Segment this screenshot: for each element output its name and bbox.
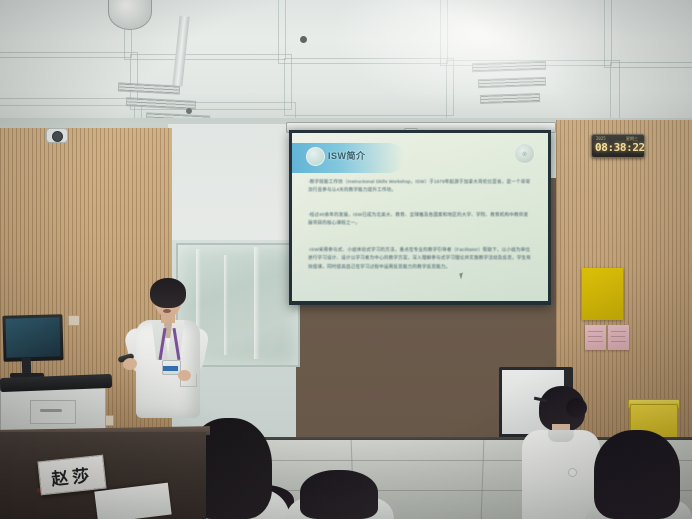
ceiling-fixture-icon <box>186 108 192 114</box>
attendee-uniform-standing <box>522 430 600 519</box>
camera-lens-icon <box>52 131 63 142</box>
wall-notice-pink-2 <box>608 325 629 350</box>
attendee-collar <box>548 430 574 442</box>
slide-paragraph-2: ·经过40余年的发展，ISW已成为北美大、教育、全球推及各国家和地区的大学、学院… <box>308 211 532 228</box>
slide-title: ISW简介 <box>328 149 478 162</box>
attendee-head-foreground-center <box>300 470 378 519</box>
slide-paragraph-1: ·教学技能工作坊（Instructional Skills Workshop，I… <box>308 178 532 195</box>
attendee-hair-bun <box>566 398 587 418</box>
presenter-mouth <box>163 309 171 313</box>
monitor-screen[interactable] <box>5 317 60 357</box>
organization-logo-icon: ◎ <box>514 143 535 164</box>
attendee-uniform-button <box>568 468 577 477</box>
nameplate-text: 赵莎 <box>50 460 94 489</box>
clock-time-display: 08:38:22 <box>595 141 640 154</box>
wall-poster-yellow <box>582 268 623 320</box>
podium-drawer[interactable] <box>30 400 76 424</box>
wall-notice-pink-1 <box>585 325 606 350</box>
ceiling <box>0 0 692 132</box>
logo-glyph: ◎ <box>522 151 526 157</box>
badge-color-bar <box>163 366 178 371</box>
podium-drawer-handle[interactable] <box>40 409 62 412</box>
presenter <box>128 278 214 438</box>
slide-title-bullet-icon <box>306 147 325 166</box>
wall-socket-icon <box>68 315 80 326</box>
smoke-detector-icon <box>300 36 307 43</box>
projection-screen: ISW简介 ◎ ·教学技能工作坊（Instructional Skills Wo… <box>292 133 548 301</box>
slide-paragraph-3: ·ISW采用参与式、小组体验式学习的方法，重点在专业的教学引导者（Facilit… <box>308 246 534 271</box>
desk-nameplate: 赵莎 <box>37 455 106 496</box>
presenter-hair <box>150 278 186 308</box>
attendee-head-foreground-right <box>594 430 680 519</box>
photo-scene: ISW简介 ◎ ·教学技能工作坊（Instructional Skills Wo… <box>0 0 692 519</box>
presenter-hand-right <box>178 370 191 381</box>
wall-panel-white-upper <box>168 124 294 244</box>
